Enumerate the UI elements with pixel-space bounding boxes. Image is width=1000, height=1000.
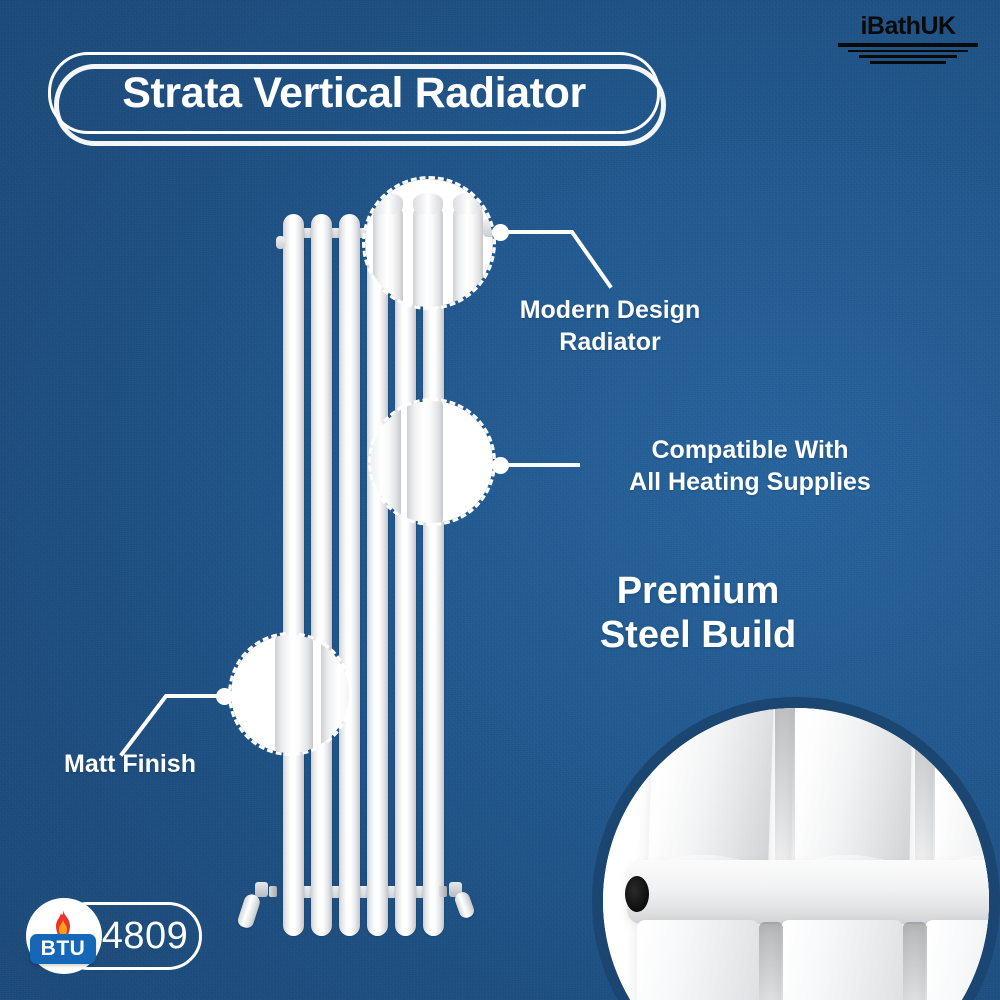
btu-chip: BTU bbox=[30, 934, 96, 964]
magnified-tube bbox=[373, 201, 403, 307]
valve-head bbox=[236, 892, 262, 929]
radiator-tube bbox=[283, 214, 304, 936]
logo-rule-1 bbox=[838, 43, 978, 47]
radiator-side-nub-left bbox=[276, 236, 285, 249]
page-title: Strata Vertical Radiator bbox=[48, 52, 660, 134]
btu-value: 4809 bbox=[92, 902, 198, 970]
closeup-inlet-port-icon bbox=[625, 876, 649, 912]
infographic-canvas: iBathUK Strata Vertical Radiator bbox=[0, 0, 1000, 1000]
logo-rule-3 bbox=[859, 55, 957, 58]
btu-badge: 4809 BTU bbox=[26, 898, 204, 974]
leader-path bbox=[122, 696, 224, 754]
radiator-tube bbox=[423, 214, 444, 936]
closeup-lower-gap-shadow bbox=[759, 922, 783, 1000]
leader-line-modern-design bbox=[500, 228, 620, 292]
valve-neck bbox=[439, 886, 447, 897]
brand-logo: iBathUK bbox=[838, 14, 978, 64]
magnifier-circle-modern-design bbox=[362, 176, 496, 310]
callout-matt-finish-label: Matt Finish bbox=[20, 748, 240, 780]
magnified-tube bbox=[407, 401, 443, 523]
valve-body bbox=[255, 882, 268, 897]
magnified-tube bbox=[371, 401, 401, 523]
radiator-tube bbox=[367, 214, 388, 936]
magnified-tube bbox=[413, 201, 443, 307]
magnifier-content bbox=[365, 179, 493, 307]
radiator-product-image bbox=[283, 214, 443, 944]
radiator-tube bbox=[311, 214, 332, 936]
closeup-tube-lower bbox=[637, 920, 759, 1000]
closeup-tube-gap-shadow bbox=[915, 708, 935, 868]
logo-rule-2 bbox=[848, 50, 968, 53]
magnified-tube-cap bbox=[413, 193, 443, 215]
radiator-tube bbox=[339, 214, 360, 936]
btu-label: BTU bbox=[41, 937, 86, 961]
leader-dot-modern-design bbox=[492, 224, 509, 241]
valve-neck bbox=[269, 886, 277, 897]
callout-compatible-label: Compatible With All Heating Supplies bbox=[540, 434, 960, 498]
closeup-tube-lower bbox=[781, 920, 903, 1000]
closeup-tube-lower bbox=[925, 920, 989, 1000]
callout-modern-design-label: Modern Design Radiator bbox=[455, 294, 765, 358]
brand-name: iBathUK bbox=[838, 14, 978, 39]
closeup-lower-gap-shadow bbox=[903, 922, 927, 1000]
leader-path bbox=[504, 232, 610, 286]
magnified-tube-cap bbox=[373, 193, 403, 215]
leader-dot-compatible bbox=[492, 457, 509, 474]
closeup-header-bar bbox=[627, 860, 989, 924]
leader-dot-matt-finish bbox=[216, 688, 233, 705]
title-plate: Strata Vertical Radiator bbox=[48, 52, 660, 134]
radiator-tube bbox=[395, 214, 416, 936]
valve-head bbox=[453, 890, 476, 920]
premium-steel-build-heading: Premium Steel Build bbox=[488, 570, 908, 657]
magnifier-circle-matt-finish bbox=[228, 632, 352, 756]
closeup-tube-gap-shadow bbox=[775, 708, 795, 868]
magnified-tube bbox=[321, 635, 349, 753]
closeup-photo-stage bbox=[603, 708, 989, 1000]
magnifier-circle-compatible bbox=[368, 398, 496, 526]
magnified-tube bbox=[453, 201, 483, 307]
magnified-tube bbox=[275, 635, 313, 753]
magnifier-content bbox=[371, 401, 493, 523]
magnified-tube-cap bbox=[453, 193, 483, 215]
logo-rule-4 bbox=[870, 61, 946, 64]
magnifier-content bbox=[231, 635, 349, 753]
product-closeup-photo bbox=[592, 697, 1000, 1000]
